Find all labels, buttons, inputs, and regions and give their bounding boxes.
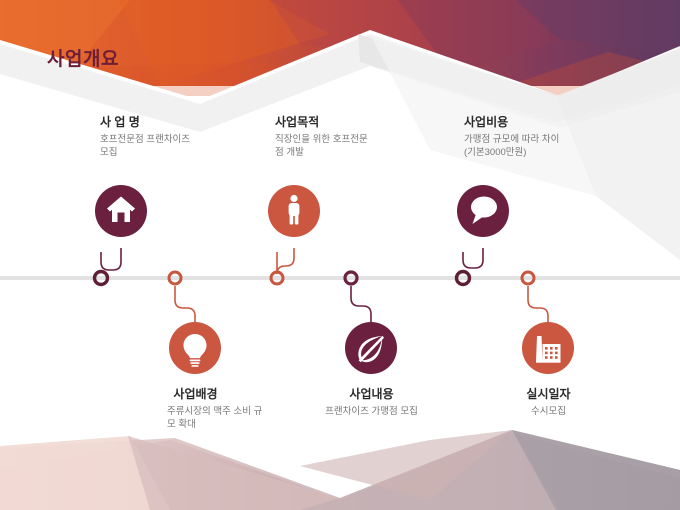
item-start-date: 실시일자 수시모집 bbox=[466, 386, 631, 418]
node-business-content[interactable] bbox=[345, 322, 397, 374]
item-heading: 사업목적 bbox=[275, 114, 440, 130]
connector-business-cost bbox=[463, 248, 483, 268]
item-business-cost: 사업비용 가맹점 규모에 따라 차이 (기본3000만원) bbox=[464, 114, 629, 159]
item-heading: 사업비용 bbox=[464, 114, 629, 130]
item-heading: 사업내용 bbox=[289, 386, 454, 402]
item-business-name: 사 업 명 호프전문점 프랜차이즈 모집 bbox=[100, 114, 265, 159]
item-description: 가맹점 규모에 따라 차이 (기본3000만원) bbox=[464, 133, 629, 159]
item-business-purpose: 사업목적 직장인을 위한 호프전문 점 개발 bbox=[275, 114, 440, 159]
node-business-cost[interactable] bbox=[457, 185, 509, 237]
item-description: 호프전문점 프랜차이즈 모집 bbox=[100, 133, 265, 159]
slide-canvas: 사업개요 bbox=[0, 0, 680, 510]
item-description: 프랜차이즈 가맹점 모집 bbox=[289, 405, 454, 418]
connector-business-name bbox=[101, 248, 121, 270]
item-description: 주류시장의 맥주 소비 규 모 확대 bbox=[167, 405, 278, 431]
connector-business-purpose bbox=[277, 248, 294, 274]
item-heading: 사 업 명 bbox=[100, 114, 265, 130]
node-start-date[interactable] bbox=[522, 322, 574, 374]
node-business-purpose[interactable] bbox=[268, 185, 320, 237]
item-business-background: 사업배경 주류시장의 맥주 소비 규 모 확대 bbox=[113, 386, 278, 431]
item-heading: 실시일자 bbox=[466, 386, 631, 402]
node-business-background[interactable] bbox=[169, 322, 221, 374]
item-heading: 사업배경 bbox=[113, 386, 278, 402]
item-description: 직장인을 위한 호프전문 점 개발 bbox=[275, 133, 440, 159]
connector-start-date bbox=[528, 286, 548, 328]
connector-business-content bbox=[351, 286, 371, 328]
connector-business-background bbox=[175, 286, 195, 328]
timeline-graphic bbox=[0, 0, 680, 510]
item-description: 수시모집 bbox=[466, 405, 631, 418]
item-business-content: 사업내용 프랜차이즈 가맹점 모집 bbox=[289, 386, 454, 418]
node-business-name[interactable] bbox=[95, 185, 147, 237]
